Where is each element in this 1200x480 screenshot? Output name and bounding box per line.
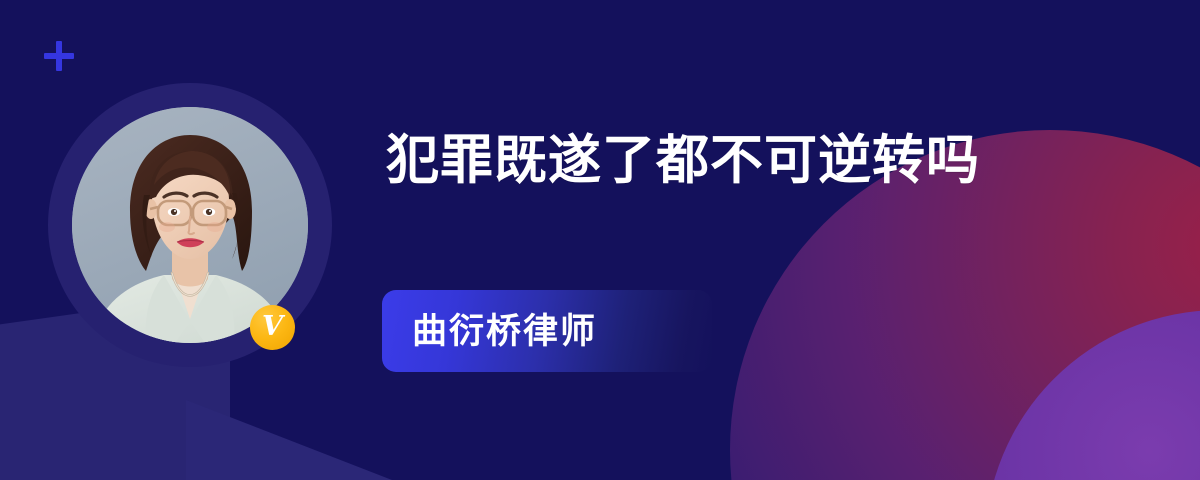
legal-qa-banner: V 犯罪既遂了都不可逆转吗 曲衍桥律师 [0, 0, 1200, 480]
triangle-shape [186, 400, 392, 480]
plus-icon [44, 41, 74, 71]
verified-badge: V [250, 305, 295, 350]
verified-badge-glyph: V [262, 313, 283, 340]
author-name-label: 曲衍桥律师 [412, 314, 597, 349]
page-title: 犯罪既遂了都不可逆转吗 [386, 130, 980, 193]
author-name-chip[interactable]: 曲衍桥律师 [382, 290, 712, 372]
avatar: V [48, 83, 332, 367]
content-block: 犯罪既遂了都不可逆转吗 曲衍桥律师 [386, 0, 1126, 480]
